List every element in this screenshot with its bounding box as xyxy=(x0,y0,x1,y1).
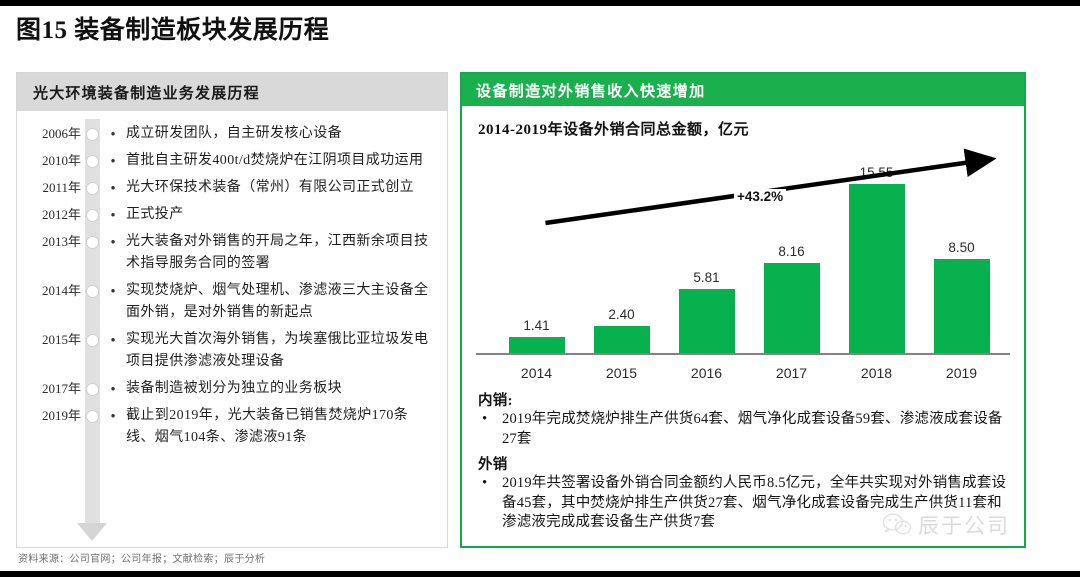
bar-value-label: 5.81 xyxy=(693,270,719,285)
source-note: 资料来源：公司官网；公司年报；文献检索；辰于分析 xyxy=(18,550,265,565)
bar-item: 15.55 xyxy=(834,165,919,353)
bar-value-label: 2.40 xyxy=(608,307,634,322)
timeline-text: 光大装备对外销售的开局之年，江西新余项目技术指导服务合同的签署 xyxy=(126,231,447,275)
timeline-node-icon xyxy=(85,150,100,172)
timeline-node-icon xyxy=(85,123,100,145)
x-axis-label: 2018 xyxy=(834,365,919,381)
bar-value-label: 8.16 xyxy=(778,244,804,259)
timeline-year: 2011年 xyxy=(17,177,85,196)
bar-value-label: 15.55 xyxy=(860,165,894,180)
chart-panel: 设备制造对外销售收入快速增加 2014-2019年设备外销合同总金额，亿元 1.… xyxy=(460,72,1026,548)
timeline-year: 2014年 xyxy=(17,280,85,299)
bar-item: 1.41 xyxy=(494,165,579,353)
top-black-band xyxy=(0,0,1080,6)
note-text: 2019年完成焚烧炉排生产供货64套、烟气净化成套设备59套、渗滤液成套设备27… xyxy=(502,410,1010,449)
timeline-arrow-icon xyxy=(77,523,107,541)
timeline-year: 2012年 xyxy=(17,204,85,223)
timeline-text: 成立研发团队，自主研发核心设备 xyxy=(126,123,447,145)
timeline-item: 2015年 • 实现光大首次海外销售，为埃塞俄比亚垃圾发电项目提供渗滤液处理设备 xyxy=(17,329,447,373)
x-axis-label: 2014 xyxy=(494,365,579,381)
bar-value-label: 8.50 xyxy=(948,240,974,255)
timeline-panel-header: 光大环境装备制造业务发展历程 xyxy=(17,73,447,111)
timeline-text: 首批自主研发400t/d焚烧炉在江阴项目成功运用 xyxy=(126,150,447,172)
timeline-node-icon xyxy=(85,329,100,351)
timeline-item: 2017年 • 装备制造被划分为独立的业务板块 xyxy=(17,378,447,400)
timeline-node-icon xyxy=(85,177,100,199)
bar-rect xyxy=(679,289,735,353)
timeline-item: 2013年 • 光大装备对外销售的开局之年，江西新余项目技术指导服务合同的签署 xyxy=(17,231,447,275)
bullet-icon: • xyxy=(100,123,126,145)
bullet-icon: • xyxy=(478,474,502,533)
timeline-panel: 光大环境装备制造业务发展历程 2006年 • 成立研发团队，自主研发核心设备 2… xyxy=(16,72,448,548)
x-axis-label: 2019 xyxy=(919,365,1004,381)
bar-rect xyxy=(594,326,650,353)
timeline-text: 实现焚烧炉、烟气处理机、渗滤液三大主设备全面外销，是对外销售的新起点 xyxy=(126,280,447,324)
bullet-icon: • xyxy=(100,280,126,302)
timeline-node-icon xyxy=(85,280,100,302)
timeline-year: 2013年 xyxy=(17,231,85,250)
timeline-item: 2014年 • 实现焚烧炉、烟气处理机、渗滤液三大主设备全面外销，是对外销售的新… xyxy=(17,280,447,324)
x-axis-label: 2017 xyxy=(749,365,834,381)
chart-x-axis-labels: 201420152016201720182019 xyxy=(494,365,1004,381)
bullet-icon: • xyxy=(100,378,126,400)
timeline-text: 实现光大首次海外销售，为埃塞俄比亚垃圾发电项目提供渗滤液处理设备 xyxy=(126,329,447,373)
trend-annotation-label: +43.2% xyxy=(734,189,786,204)
figure-page: 图15 装备制造板块发展历程 光大环境装备制造业务发展历程 2006年 • 成立… xyxy=(0,0,1080,577)
bullet-icon: • xyxy=(478,410,502,449)
timeline-year: 2017年 xyxy=(17,378,85,397)
note-heading-domestic: 内销: xyxy=(478,389,1010,410)
x-axis-label: 2015 xyxy=(579,365,664,381)
timeline-year: 2006年 xyxy=(17,123,85,142)
bullet-icon: • xyxy=(100,177,126,199)
timeline-text: 光大环保技术装备（常州）有限公司正式创立 xyxy=(126,177,447,199)
timeline-item: 2019年 • 截止到2019年，光大装备已销售焚烧炉170条线、烟气104条、… xyxy=(17,405,447,449)
timeline-item: 2010年 • 首批自主研发400t/d焚烧炉在江阴项目成功运用 xyxy=(17,150,447,172)
note-heading-export: 外销 xyxy=(478,453,1010,474)
bullet-icon: • xyxy=(100,329,126,351)
timeline-body: 2006年 • 成立研发团队，自主研发核心设备 2010年 • 首批自主研发40… xyxy=(17,111,447,547)
timeline-text: 正式投产 xyxy=(126,204,447,226)
bullet-icon: • xyxy=(100,231,126,253)
bar-item: 2.40 xyxy=(579,165,664,353)
timeline-year: 2015年 xyxy=(17,329,85,348)
timeline-node-icon xyxy=(85,204,100,226)
note-item-domestic: • 2019年完成焚烧炉排生产供货64套、烟气净化成套设备59套、渗滤液成套设备… xyxy=(478,410,1010,449)
timeline-node-icon xyxy=(85,231,100,253)
timeline-node-icon xyxy=(85,405,100,427)
timeline-item: 2012年 • 正式投产 xyxy=(17,204,447,226)
bottom-black-band xyxy=(0,571,1080,577)
watermark: 辰于公司 xyxy=(882,510,1010,540)
timeline-node-icon xyxy=(85,378,100,400)
bar-rect xyxy=(934,259,990,353)
timeline-text: 截止到2019年，光大装备已销售焚烧炉170条线、烟气104条、渗滤液91条 xyxy=(126,405,447,449)
bar-value-label: 1.41 xyxy=(523,318,549,333)
timeline-year: 2010年 xyxy=(17,150,85,169)
bar-item: 8.50 xyxy=(919,165,1004,353)
timeline-item: 2006年 • 成立研发团队，自主研发核心设备 xyxy=(17,123,447,145)
watermark-text: 辰于公司 xyxy=(918,510,1010,540)
bar-rect xyxy=(764,263,820,353)
timeline-text: 装备制造被划分为独立的业务板块 xyxy=(126,378,447,400)
bar-chart: 1.412.405.818.1615.558.50 20142015201620… xyxy=(476,145,1010,385)
timeline-year: 2019年 xyxy=(17,405,85,424)
wechat-icon xyxy=(882,513,912,537)
bullet-icon: • xyxy=(100,150,126,172)
chart-panel-header: 设备制造对外销售收入快速增加 xyxy=(462,74,1024,106)
page-title: 图15 装备制造板块发展历程 xyxy=(16,10,329,46)
bullet-icon: • xyxy=(100,405,126,427)
chart-axis-line xyxy=(476,353,1010,355)
bar-rect xyxy=(849,184,905,353)
bullet-icon: • xyxy=(100,204,126,226)
bar-rect xyxy=(509,337,565,353)
x-axis-label: 2016 xyxy=(664,365,749,381)
chart-title: 2014-2019年设备外销合同总金额，亿元 xyxy=(462,106,1024,139)
timeline-item: 2011年 • 光大环保技术装备（常州）有限公司正式创立 xyxy=(17,177,447,199)
